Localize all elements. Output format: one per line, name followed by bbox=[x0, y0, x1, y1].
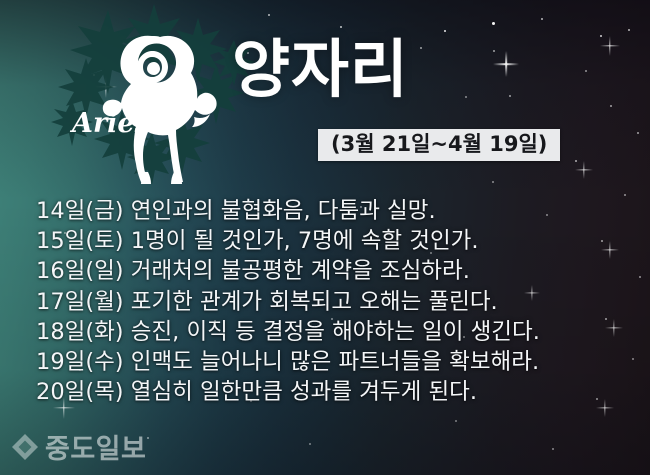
sparkle-star bbox=[600, 36, 620, 56]
star bbox=[444, 30, 446, 32]
star bbox=[637, 132, 639, 134]
star bbox=[509, 95, 511, 97]
star bbox=[492, 22, 495, 25]
watermark-label: 중도일보 bbox=[45, 436, 146, 463]
diamond-logo-icon bbox=[10, 432, 40, 467]
sparkle-star bbox=[575, 161, 593, 179]
watermark: 중도일보 bbox=[10, 432, 146, 467]
list-item: 20일(목) 열심히 일한만큼 성과를 겨두게 된다. bbox=[36, 377, 636, 407]
page-title: 양자리 bbox=[232, 38, 409, 101]
list-item: 14일(금) 연인과의 불협화음, 다툼과 실망. bbox=[36, 196, 636, 226]
fortune-lines-list: 14일(금) 연인과의 불협화음, 다툼과 실망. 15일(토) 1명이 될 것… bbox=[36, 196, 636, 407]
star bbox=[492, 181, 494, 183]
list-item: 17일(월) 포기한 관계가 회복되고 오해는 풀린다. bbox=[36, 287, 636, 317]
star bbox=[420, 47, 422, 49]
star bbox=[309, 443, 311, 445]
star bbox=[628, 29, 630, 31]
sparkle-star bbox=[493, 51, 519, 77]
aries-script-label: Aries bbox=[69, 108, 150, 139]
star bbox=[600, 35, 602, 37]
star bbox=[639, 276, 641, 278]
star bbox=[585, 70, 587, 72]
list-item: 15일(토) 1명이 될 것인가, 7명에 속할 것인가. bbox=[36, 226, 636, 256]
date-range-badge: (3월 21일~4월 19일) bbox=[318, 129, 560, 161]
list-item: 18일(화) 승진, 이직 등 결정을 해야하는 일이 생긴다. bbox=[36, 317, 636, 347]
list-item: 19일(수) 인맥도 늘어나니 많은 파트너들을 확보해라. bbox=[36, 347, 636, 377]
list-item: 16일(일) 거래처의 불공평한 계약을 조심하라. bbox=[36, 256, 636, 286]
star bbox=[465, 96, 467, 98]
star bbox=[340, 26, 342, 28]
star bbox=[610, 105, 612, 107]
star bbox=[455, 420, 457, 422]
zodiac-horoscope-card: Aries 양자리 (3월 21일~4월 19일) 14일(금) 연인과의 불협… bbox=[0, 0, 650, 475]
star bbox=[493, 50, 495, 52]
star bbox=[147, 437, 149, 439]
star bbox=[541, 18, 543, 20]
star bbox=[575, 160, 577, 162]
star bbox=[268, 14, 270, 16]
aries-emblem: Aries bbox=[48, 4, 258, 189]
star bbox=[552, 448, 554, 450]
